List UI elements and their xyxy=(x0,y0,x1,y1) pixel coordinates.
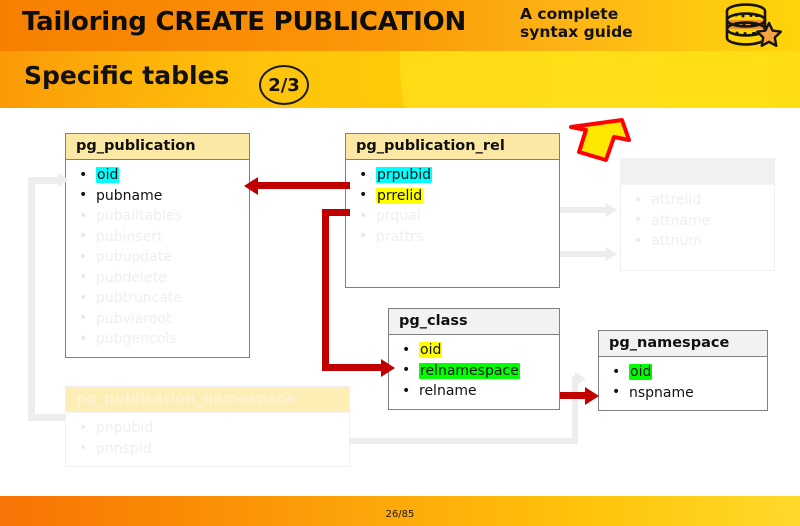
field-label: pubinsert xyxy=(96,229,163,245)
entity-header-pg-class: pg_class xyxy=(389,309,559,335)
fk-arrowhead-pg-class-oid xyxy=(381,359,395,377)
ghost-connector-segment-bottom xyxy=(28,414,70,421)
database-star-logo-icon xyxy=(710,2,792,54)
field-row: puballtables xyxy=(66,206,249,227)
entity-field-list: oid pubname puballtables pubinsert pubup… xyxy=(66,160,249,357)
field-row: pubgencols xyxy=(66,329,249,350)
entity-header-pg-publication: pg_publication xyxy=(66,134,249,160)
fk-connector-prpubid-to-oid xyxy=(258,182,350,189)
entity-table-pg-namespace[interactable]: pg_namespace oid nspname xyxy=(598,330,768,411)
subtitle-tagline: A complete syntax guide xyxy=(520,5,680,41)
field-label: prqual xyxy=(376,208,421,224)
field-label: attrelid xyxy=(651,192,701,208)
ghost-arrowhead-pg-publication xyxy=(58,173,69,187)
fk-arrowhead-pg-namespace-oid xyxy=(585,387,599,405)
field-label: pnnspid xyxy=(96,441,152,457)
field-row: prqual xyxy=(346,206,559,227)
field-label: prpubid xyxy=(376,167,432,183)
field-label: attnum xyxy=(651,233,702,249)
entity-table-pg-publication-rel[interactable]: pg_publication_rel prpubid prrelid prqua… xyxy=(345,133,560,288)
field-row: attname xyxy=(621,211,774,232)
entity-field-list: attrelid attname attnum xyxy=(621,185,774,270)
entity-table-pg-publication[interactable]: pg_publication oid pubname puballtables … xyxy=(65,133,250,358)
section-title: Specific tables xyxy=(24,61,229,90)
field-row: pubname xyxy=(66,186,249,207)
field-label: pnpubid xyxy=(96,420,153,436)
tagline-line-2: syntax guide xyxy=(520,23,680,41)
field-row: oid xyxy=(66,165,249,186)
field-label: pubdelete xyxy=(96,270,167,286)
field-label: oid xyxy=(96,167,119,183)
field-label: relnamespace xyxy=(419,363,520,379)
field-label: pubgencols xyxy=(96,331,176,347)
field-label: pubtruncate xyxy=(96,290,182,306)
field-row: prpubid xyxy=(346,165,559,186)
slide: Tailoring CREATE PUBLICATION A complete … xyxy=(0,0,800,526)
entity-header-pg-attribute xyxy=(621,159,774,185)
entity-header-pg-publication-namespace: pg_publication_namespace xyxy=(66,387,349,413)
field-row: nspname xyxy=(599,383,767,404)
entity-header-pg-publication-rel: pg_publication_rel xyxy=(346,134,559,160)
entity-field-list: pnpubid pnnspid xyxy=(66,413,349,466)
field-label: prrelid xyxy=(376,188,423,204)
page-number: 26/85 xyxy=(0,509,800,520)
callout-arrow-icon xyxy=(565,116,633,168)
fk-connector-prrelid-horizontal-bottom xyxy=(322,364,384,371)
fk-arrowhead-pg-publication-oid xyxy=(244,177,258,195)
field-row: oid xyxy=(389,340,559,361)
ghost-connector-segment-top xyxy=(28,177,60,184)
field-row: pubdelete xyxy=(66,268,249,289)
field-label: pubname xyxy=(96,188,162,204)
section-counter-badge: 2/3 xyxy=(259,65,309,105)
field-label: relname xyxy=(419,383,477,399)
diagram-canvas: pg_publication oid pubname puballtables … xyxy=(0,108,800,496)
field-label: prattrs xyxy=(376,229,423,245)
decorative-swoosh xyxy=(400,51,800,108)
field-label: nspname xyxy=(629,385,694,401)
ghost-arrowhead-attnum xyxy=(606,247,617,261)
field-label: pubupdate xyxy=(96,249,172,265)
entity-field-list: oid nspname xyxy=(599,357,767,410)
ghost-connector-pnnspid-vertical xyxy=(572,376,578,444)
page-title: Tailoring CREATE PUBLICATION xyxy=(22,7,466,37)
entity-header-pg-namespace: pg_namespace xyxy=(599,331,767,357)
fk-connector-prrelid-vertical xyxy=(322,209,329,371)
field-row: attnum xyxy=(621,231,774,252)
field-row: pubviaroot xyxy=(66,309,249,330)
ghost-arrowhead-pg-namespace xyxy=(575,372,586,386)
field-row: attrelid xyxy=(621,190,774,211)
field-row: pubinsert xyxy=(66,227,249,248)
field-row: pnnspid xyxy=(66,439,349,460)
field-row: pnpubid xyxy=(66,418,349,439)
tagline-line-1: A complete xyxy=(520,5,680,23)
field-row: oid xyxy=(599,362,767,383)
entity-field-list: prpubid prrelid prqual prattrs xyxy=(346,160,559,287)
entity-field-list: oid relnamespace relname xyxy=(389,335,559,409)
field-row: pubtruncate xyxy=(66,288,249,309)
field-row: prrelid xyxy=(346,186,559,207)
entity-table-pg-class[interactable]: pg_class oid relnamespace relname xyxy=(388,308,560,410)
entity-table-pg-publication-namespace-ghost[interactable]: pg_publication_namespace pnpubid pnnspid xyxy=(65,386,350,467)
field-row: relname xyxy=(389,381,559,402)
field-label: attname xyxy=(651,213,710,229)
entity-table-pg-attribute-ghost[interactable]: attrelid attname attnum xyxy=(620,158,775,271)
ghost-connector-pnpubid-to-pubid xyxy=(28,177,35,421)
field-label: puballtables xyxy=(96,208,182,224)
field-label: oid xyxy=(629,364,652,380)
field-label: pubviaroot xyxy=(96,311,171,327)
field-row: relnamespace xyxy=(389,361,559,382)
ghost-arrowhead-attrelid xyxy=(606,203,617,217)
field-label: oid xyxy=(419,342,442,358)
field-row: pubupdate xyxy=(66,247,249,268)
field-row: prattrs xyxy=(346,227,559,248)
